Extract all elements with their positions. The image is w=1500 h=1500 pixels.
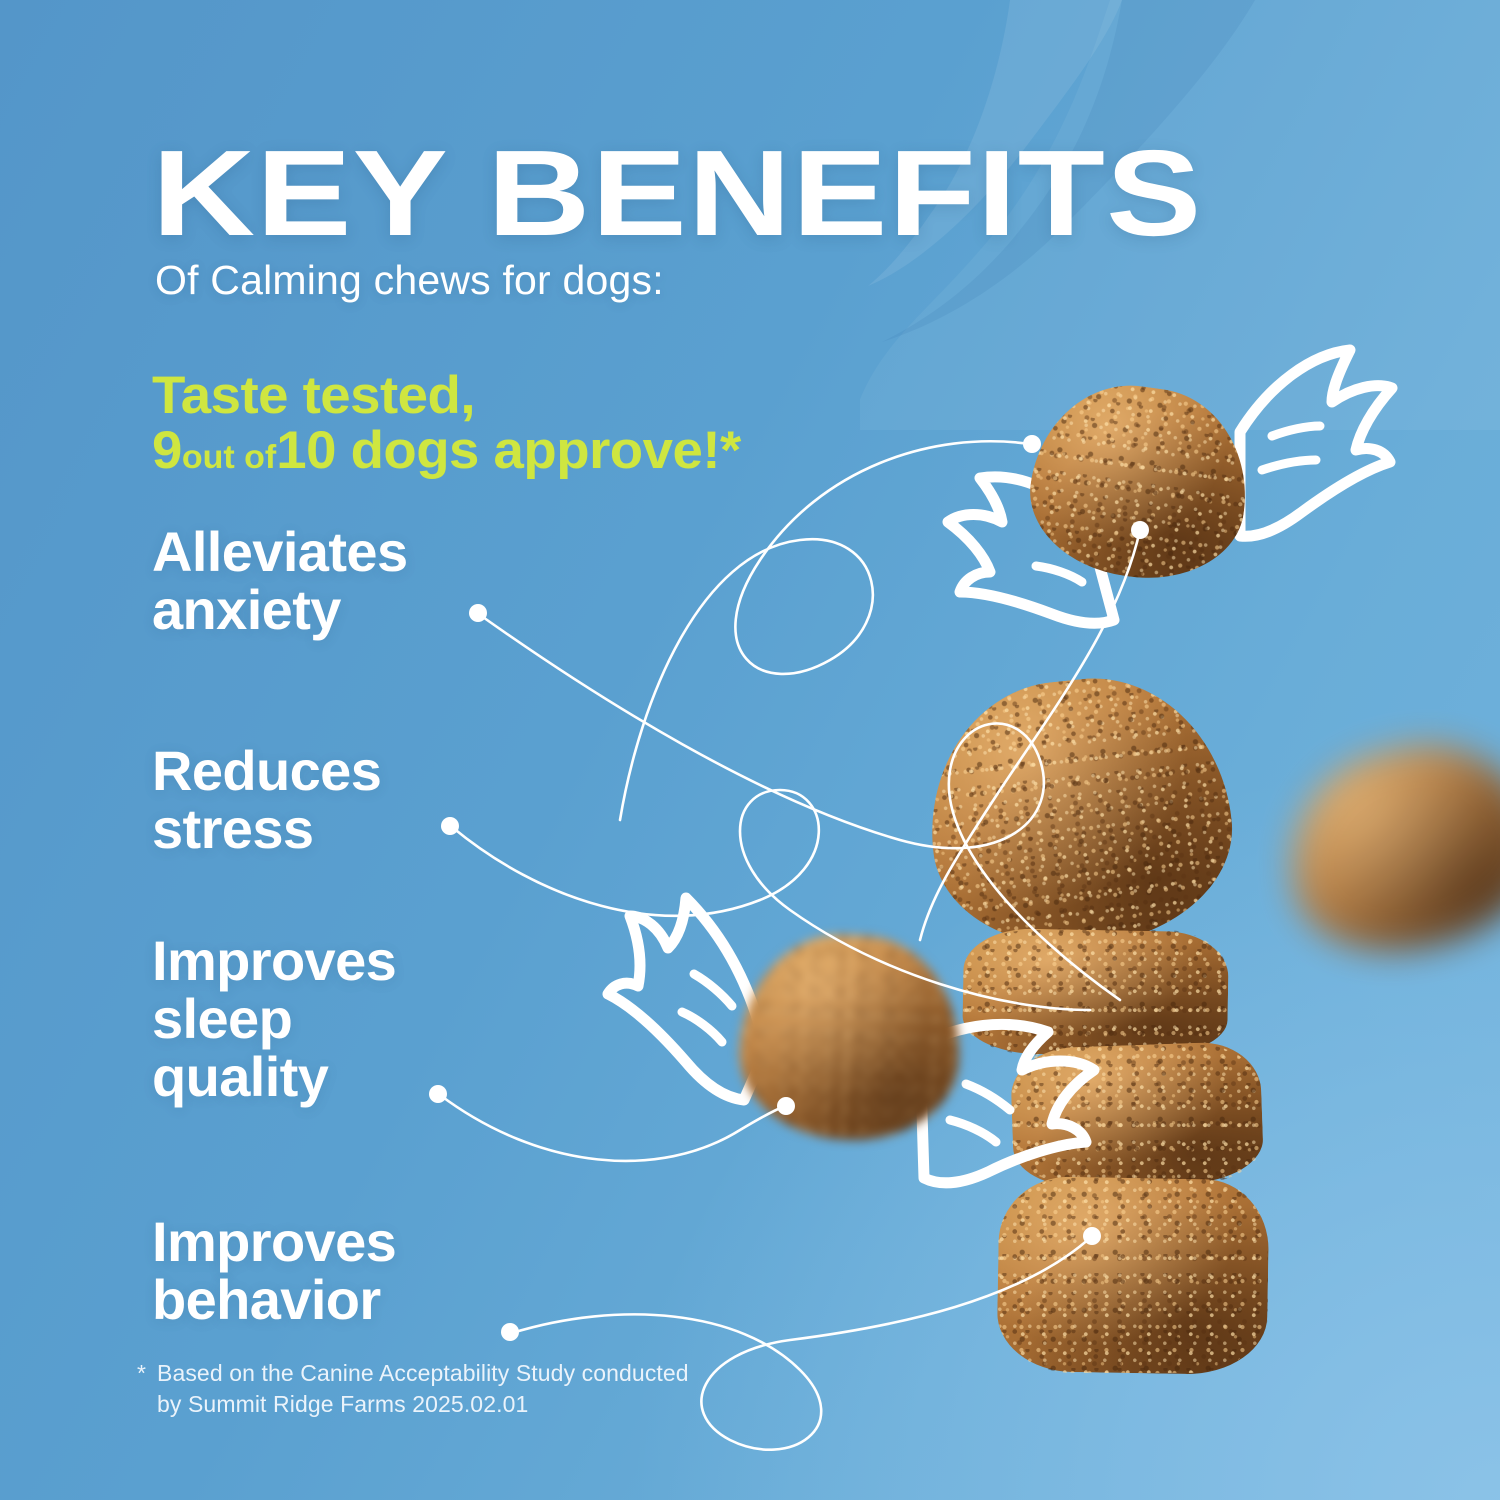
claim-out-of: out of [182, 438, 276, 475]
key-benefits-poster: KEY BENEFITS Of Calming chews for dogs: … [0, 0, 1500, 1500]
benefit-item-improves-sleep-quality: Improves sleep quality [152, 932, 396, 1107]
footnote-line-2: by Summit Ridge Farms 2025.02.01 [137, 1389, 689, 1420]
benefit-2-line-1: Reduces [152, 739, 381, 802]
footnote-marker: * [137, 1358, 146, 1389]
claim-line-2: 9out of10 dogs approve!* [152, 423, 741, 478]
benefit-item-improves-behavior: Improves behavior [152, 1213, 396, 1329]
benefit-3-line-2: sleep [152, 987, 292, 1050]
footnote: * Based on the Canine Acceptability Stud… [137, 1358, 689, 1419]
benefit-item-reduces-stress: Reduces stress [152, 742, 381, 858]
benefit-1-line-2: anxiety [152, 578, 341, 641]
benefit-1-line-1: Alleviates [152, 520, 408, 583]
claim-number-9: 9 [152, 421, 182, 480]
text-layer: KEY BENEFITS Of Calming chews for dogs: … [0, 0, 1500, 1500]
benefit-4-line-2: behavior [152, 1268, 381, 1331]
taste-test-claim: Taste tested, 9out of10 dogs approve!* [152, 368, 741, 478]
benefit-3-line-3: quality [152, 1045, 328, 1108]
page-title: KEY BENEFITS [152, 132, 1202, 254]
page-subtitle: Of Calming chews for dogs: [155, 258, 664, 303]
footnote-line-1: Based on the Canine Acceptability Study … [137, 1358, 689, 1389]
benefit-4-line-1: Improves [152, 1210, 396, 1273]
benefit-item-alleviates-anxiety: Alleviates anxiety [152, 523, 408, 639]
claim-number-10-dogs: 10 dogs approve!* [276, 421, 740, 480]
benefit-3-line-1: Improves [152, 929, 396, 992]
claim-line-1: Taste tested, [152, 366, 475, 425]
benefit-2-line-2: stress [152, 797, 313, 860]
